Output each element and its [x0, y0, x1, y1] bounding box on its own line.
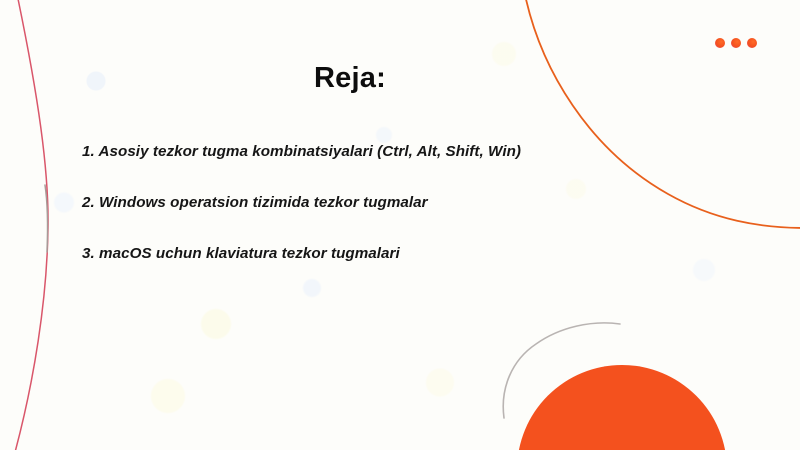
agenda-item: 3. macOS uchun klaviatura tezkor tugmala… [82, 245, 400, 262]
accent-dot-icon [715, 38, 725, 48]
bottom-right-orange-circle [517, 365, 727, 450]
presentation-slide: Reja: 1. Asosiy tezkor tugma kombinatsiy… [0, 0, 800, 450]
bottom-right-gray-arc [503, 323, 620, 418]
agenda-item: 2. Windows operatsion tizimida tezkor tu… [82, 194, 428, 211]
accent-dot-icon [731, 38, 741, 48]
left-arc-gray-segment [45, 185, 48, 252]
top-right-orange-arc [524, 0, 800, 228]
slide-title: Reja: [0, 62, 700, 95]
agenda-item: 1. Asosiy tezkor tugma kombinatsiyalari … [82, 143, 521, 160]
accent-dot-icon [747, 38, 757, 48]
